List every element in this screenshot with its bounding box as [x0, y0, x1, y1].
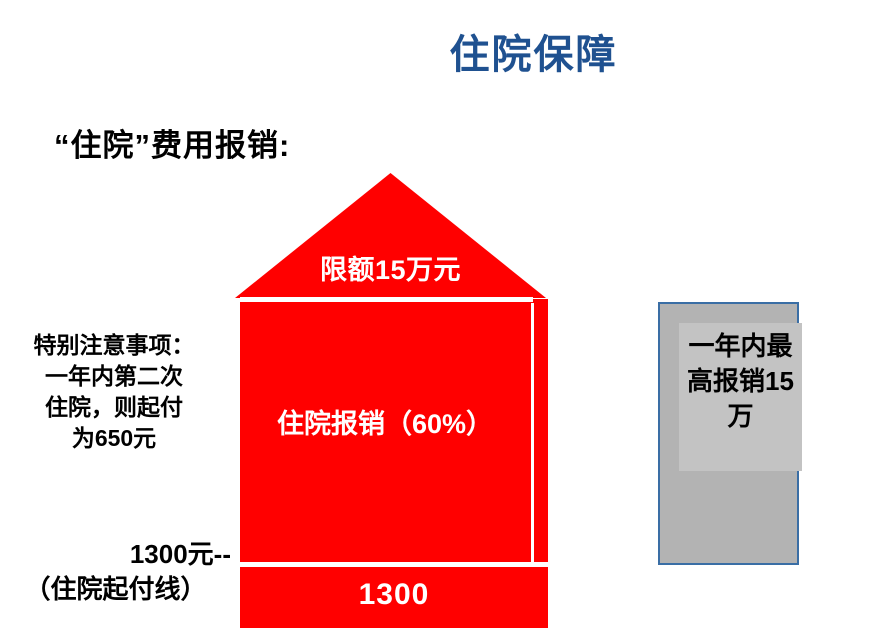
note-line-2: 一年内第二次 [0, 361, 228, 392]
roof-divider [240, 297, 533, 302]
note-line-4: 为650元 [0, 423, 228, 454]
body-label: 住院报销（60%） [240, 402, 530, 441]
house-body: 住院报销（60%） [240, 299, 548, 565]
deductible-description: （住院起付线） [0, 572, 231, 607]
body-vertical-divider [531, 303, 534, 565]
base-divider [240, 562, 548, 567]
roof-label: 限额15万元 [235, 248, 546, 287]
side-panel: 一年内最高报销15万 [658, 302, 799, 565]
base-label: 1300 [240, 578, 548, 612]
house-base-band: 1300 [240, 565, 548, 628]
deductible-caption: 1300元-- （住院起付线） [0, 537, 231, 607]
note-line-3: 住院，则起付 [0, 392, 228, 423]
side-panel-label: 一年内最高报销15万 [683, 329, 798, 434]
side-panel-textbox: 一年内最高报销15万 [679, 323, 802, 471]
deductible-amount: 1300元-- [0, 537, 231, 572]
house-diagram: 限额15万元 住院报销（60%） 1300 [235, 173, 550, 629]
special-note: 特别注意事项： 一年内第二次 住院，则起付 为650元 [0, 330, 228, 454]
section-subtitle: “住院”费用报销: [54, 120, 290, 165]
note-line-1: 特别注意事项： [0, 330, 228, 361]
roof-shape: 限额15万元 [235, 173, 546, 298]
page-title: 住院保障 [0, 22, 887, 80]
